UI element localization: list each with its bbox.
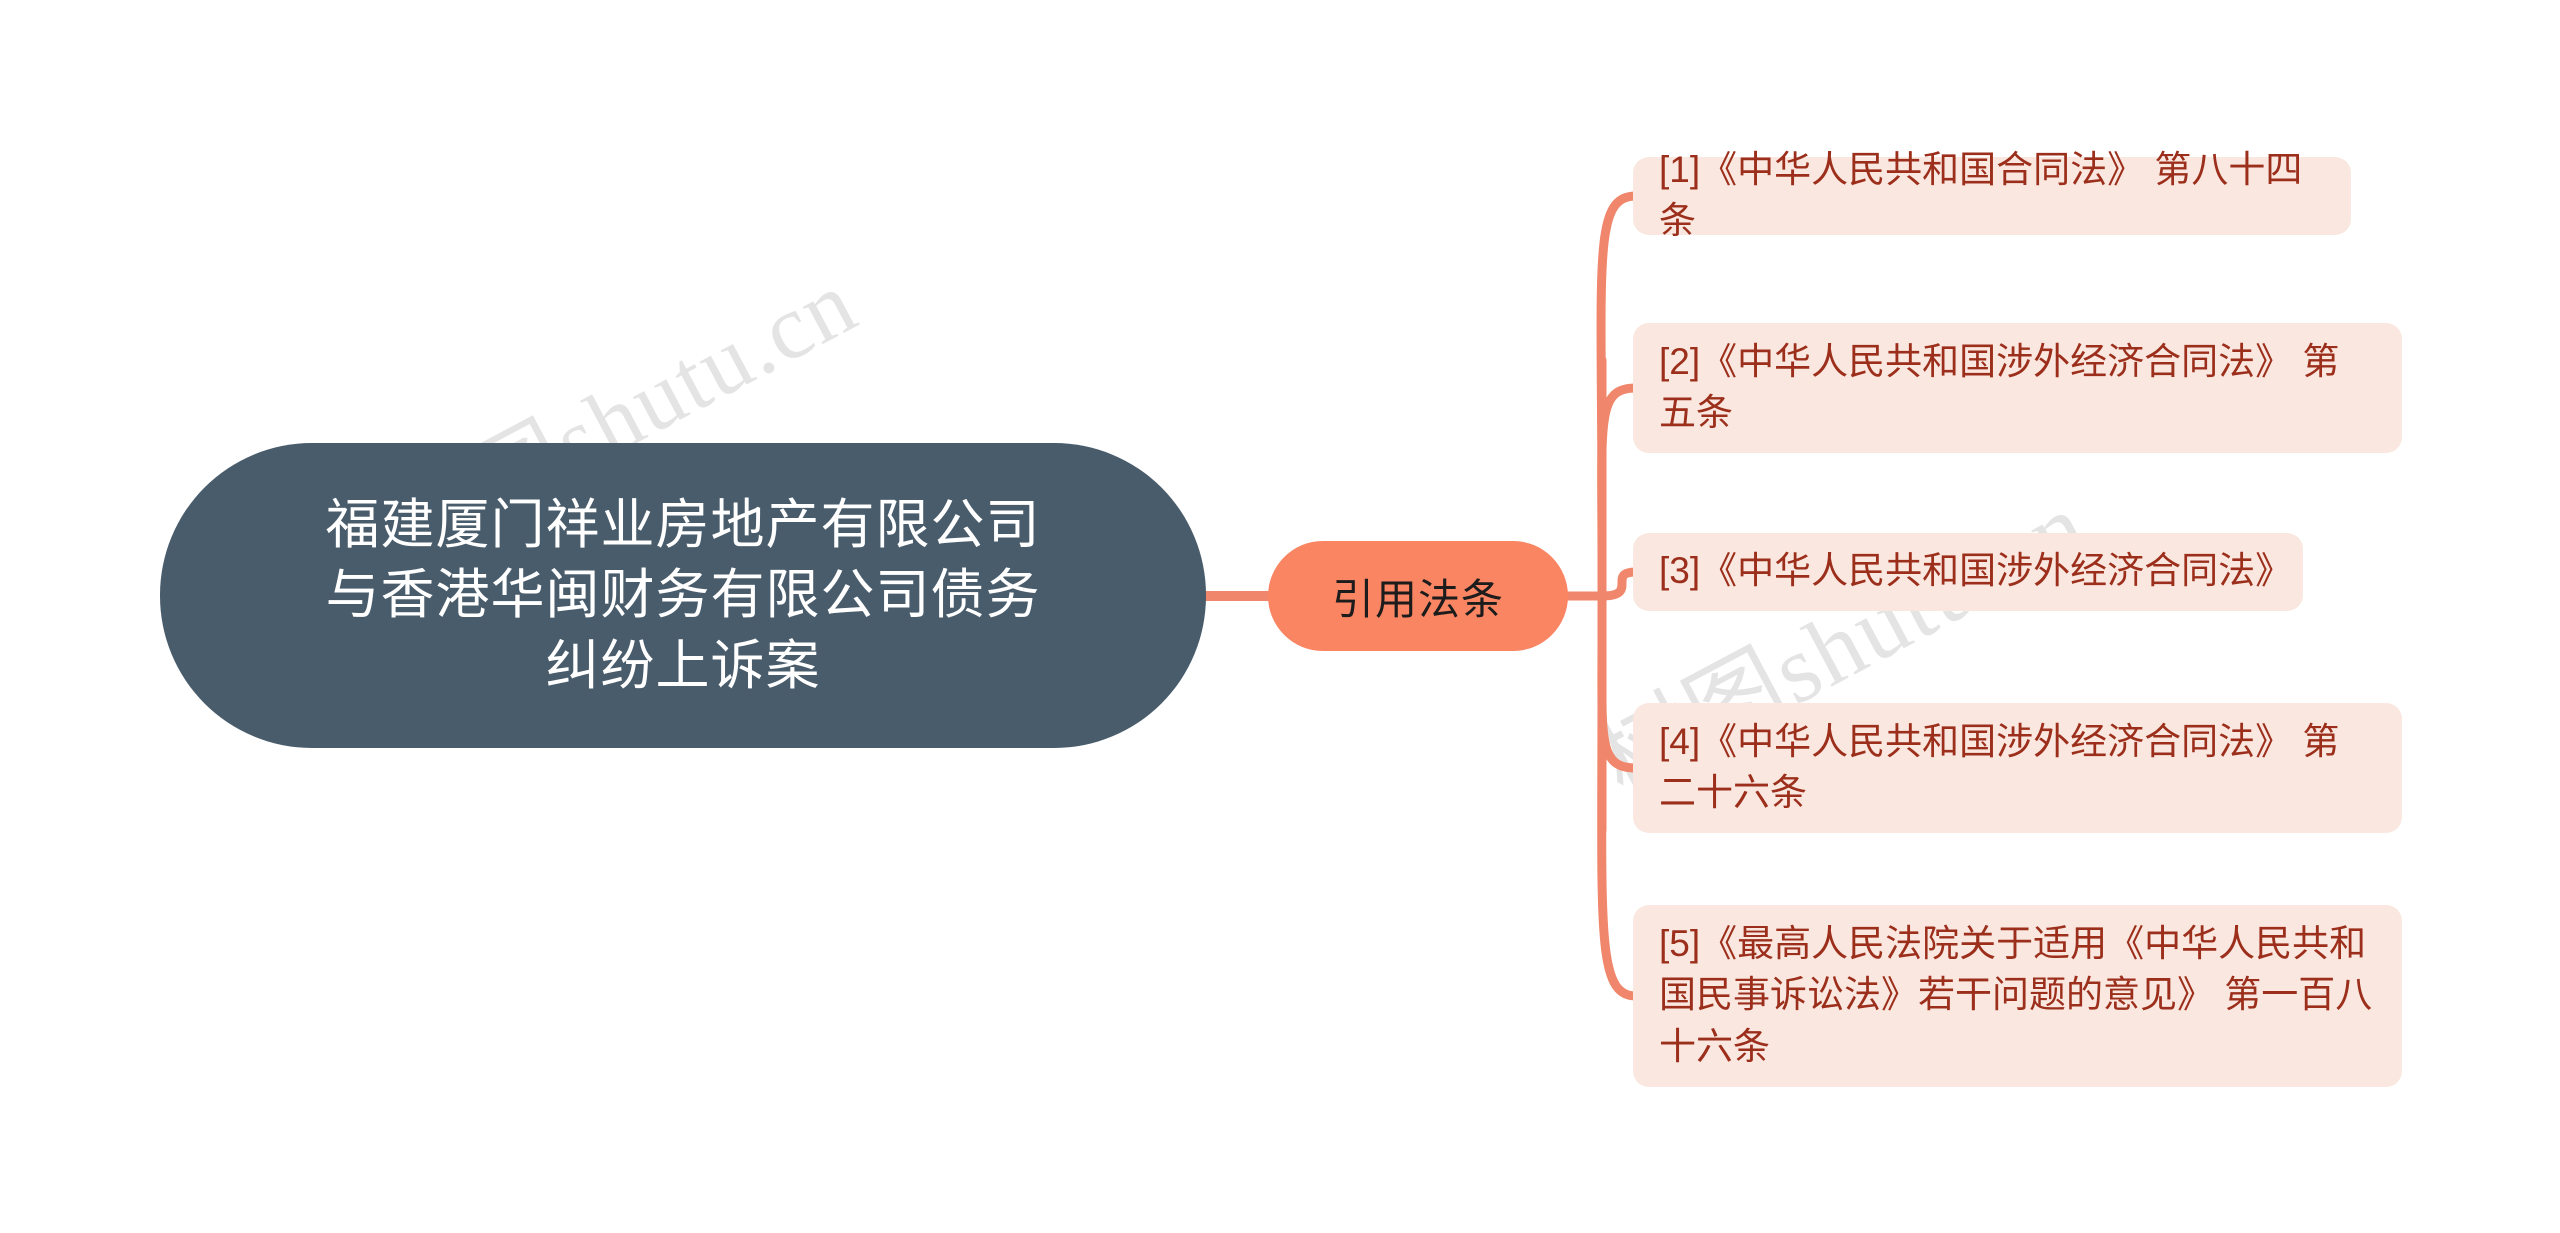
mindmap-canvas: 树图shutu.cn 树图shutu.cn 福建厦门祥业房地产有限公司与香港华闽… bbox=[0, 0, 2560, 1233]
leaf-node-2-label: [2]《中华人民共和国涉外经济合同法》 第五条 bbox=[1659, 336, 2376, 438]
connector-to-leaf-2 bbox=[1602, 388, 1636, 560]
leaf-node-1-label: [1]《中华人民共和国合同法》 第八十四条 bbox=[1659, 144, 2325, 246]
leaf-node-5-label: [5]《最高人民法院关于适用《中华人民共和国民事诉讼法》若干问题的意见》 第一百… bbox=[1659, 918, 2376, 1071]
leaf-node-3-label: [3]《中华人民共和国涉外经济合同法》 bbox=[1659, 545, 2277, 596]
leaf-node-1[interactable]: [1]《中华人民共和国合同法》 第八十四条 bbox=[1633, 157, 2351, 235]
connector-to-leaf-4 bbox=[1602, 640, 1636, 768]
leaf-node-5[interactable]: [5]《最高人民法院关于适用《中华人民共和国民事诉讼法》若干问题的意见》 第一百… bbox=[1633, 905, 2402, 1087]
branch-node-cited-provisions[interactable]: 引用法条 bbox=[1268, 541, 1568, 651]
leaf-node-4-label: [4]《中华人民共和国涉外经济合同法》 第二十六条 bbox=[1659, 716, 2376, 818]
branch-node-label: 引用法条 bbox=[1332, 566, 1504, 627]
root-node-label: 福建厦门祥业房地产有限公司与香港华闽财务有限公司债务纠纷上诉案 bbox=[313, 490, 1053, 701]
leaf-node-2[interactable]: [2]《中华人民共和国涉外经济合同法》 第五条 bbox=[1633, 323, 2402, 453]
connector-to-leaf-1 bbox=[1601, 196, 1636, 520]
leaf-node-4[interactable]: [4]《中华人民共和国涉外经济合同法》 第二十六条 bbox=[1633, 703, 2402, 833]
leaf-node-3[interactable]: [3]《中华人民共和国涉外经济合同法》 bbox=[1633, 533, 2303, 611]
root-node[interactable]: 福建厦门祥业房地产有限公司与香港华闽财务有限公司债务纠纷上诉案 bbox=[160, 443, 1206, 748]
connector-to-leaf-3 bbox=[1602, 572, 1636, 596]
